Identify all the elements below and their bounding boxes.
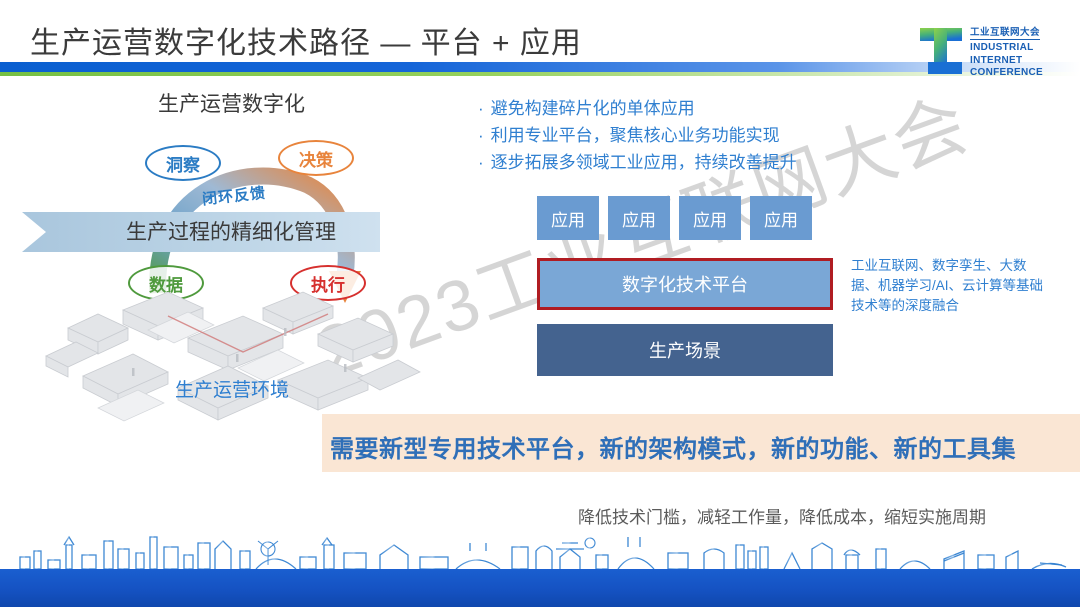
- digital-technology-platform-box: 数字化技术平台: [537, 258, 833, 310]
- conference-logo: 工业互联网大会 INDUSTRIAL INTERNET CONFERENCE: [918, 22, 1068, 80]
- page-title: 生产运营数字化技术路径 — 平台 + 应用: [30, 18, 582, 62]
- environment-label: 生产运营环境: [175, 375, 289, 402]
- highlight-banner-text: 需要新型专用技术平台，新的架构模式，新的功能、新的工具集: [330, 429, 1016, 464]
- logo-text-block: 工业互联网大会 INDUSTRIAL INTERNET CONFERENCE: [970, 22, 1070, 80]
- app-box: 应用: [679, 196, 741, 240]
- ribbon-label: 生产过程的精细化管理: [126, 216, 336, 246]
- logo-en-line3: CONFERENCE: [970, 67, 1070, 80]
- app-box: 应用: [750, 196, 812, 240]
- logo-chinese-name: 工业互联网大会: [970, 24, 1040, 40]
- bullet-marker-icon: ·: [478, 123, 484, 148]
- logo-en-line1: INDUSTRIAL: [970, 42, 1070, 55]
- app-box: 应用: [537, 196, 599, 240]
- industrial-city-skyline-icon: [0, 527, 1080, 607]
- side-annotation-text: 工业互联网、数字孪生、大数据、机器学习/AI、云计算等基础技术等的深度融合: [851, 256, 1051, 316]
- app-box: 应用: [608, 196, 670, 240]
- production-scene-box: 生产场景: [537, 324, 833, 376]
- industrial-gong-mark-icon: [918, 26, 964, 76]
- bullet-item: · 逐步拓展多领域工业应用，持续改善提升: [478, 150, 797, 175]
- application-boxes-row: 应用 应用 应用 应用: [537, 196, 812, 240]
- bullet-marker-icon: ·: [478, 96, 484, 121]
- bullet-item: · 避免构建碎片化的单体应用: [478, 96, 797, 121]
- logo-en-line2: INTERNET: [970, 55, 1070, 68]
- footer-sea-band: [0, 569, 1080, 607]
- bullet-item: · 利用专业平台，聚焦核心业务功能实现: [478, 123, 797, 148]
- cycle-node-decision: 决策: [278, 140, 354, 176]
- cycle-node-insight: 洞察: [145, 145, 221, 181]
- slide-root: 生产运营数字化技术路径 — 平台 + 应用 工业互联网大会 INDU: [0, 0, 1080, 607]
- bullet-list: · 避免构建碎片化的单体应用 · 利用专业平台，聚焦核心业务功能实现 · 逐步拓…: [478, 96, 797, 177]
- bullet-text: 避免构建碎片化的单体应用: [491, 96, 695, 121]
- bullet-text: 利用专业平台，聚焦核心业务功能实现: [491, 123, 780, 148]
- bullet-text: 逐步拓展多领域工业应用，持续改善提升: [491, 150, 797, 175]
- left-sub-heading: 生产运营数字化: [158, 88, 305, 118]
- bullet-marker-icon: ·: [478, 150, 484, 175]
- footnote-text: 降低技术门槛，减轻工作量，降低成本，缩短实施周期: [578, 503, 986, 528]
